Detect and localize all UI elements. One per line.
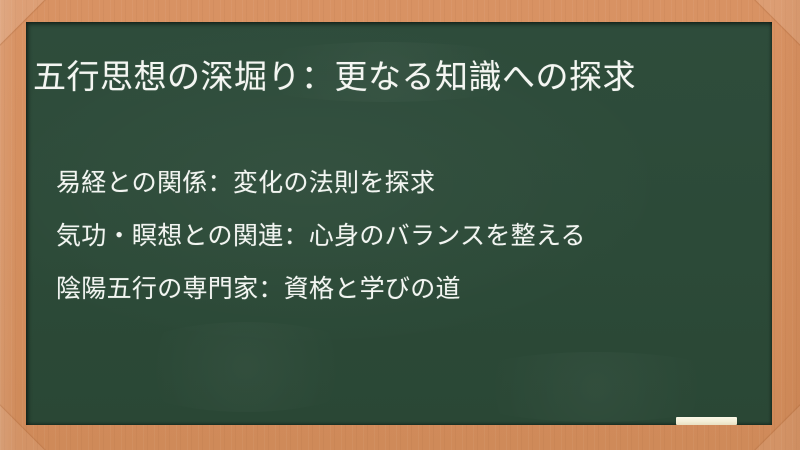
chalkboard-slide: 五行思想の深堀り：更なる知識への探求 易経との関係：変化の法則を探求 気功・瞑想…	[0, 0, 800, 450]
chalkboard-surface: 五行思想の深堀り：更なる知識への探求 易経との関係：変化の法則を探求 気功・瞑想…	[26, 22, 772, 425]
slide-bullet-list: 易経との関係：変化の法則を探求 気功・瞑想との関連：心身のバランスを整える 陰陽…	[56, 156, 756, 315]
bullet-item-2: 気功・瞑想との関連：心身のバランスを整える	[56, 209, 756, 262]
chalk-stick-icon	[676, 417, 737, 425]
slide-title: 五行思想の深堀り：更なる知識への探求	[33, 53, 733, 100]
chalk-smudge	[116, 322, 376, 412]
bullet-item-3: 陰陽五行の専門家：資格と学びの道	[56, 262, 756, 315]
bullet-item-1: 易経との関係：変化の法則を探求	[56, 156, 756, 209]
chalk-smudge	[446, 352, 746, 422]
